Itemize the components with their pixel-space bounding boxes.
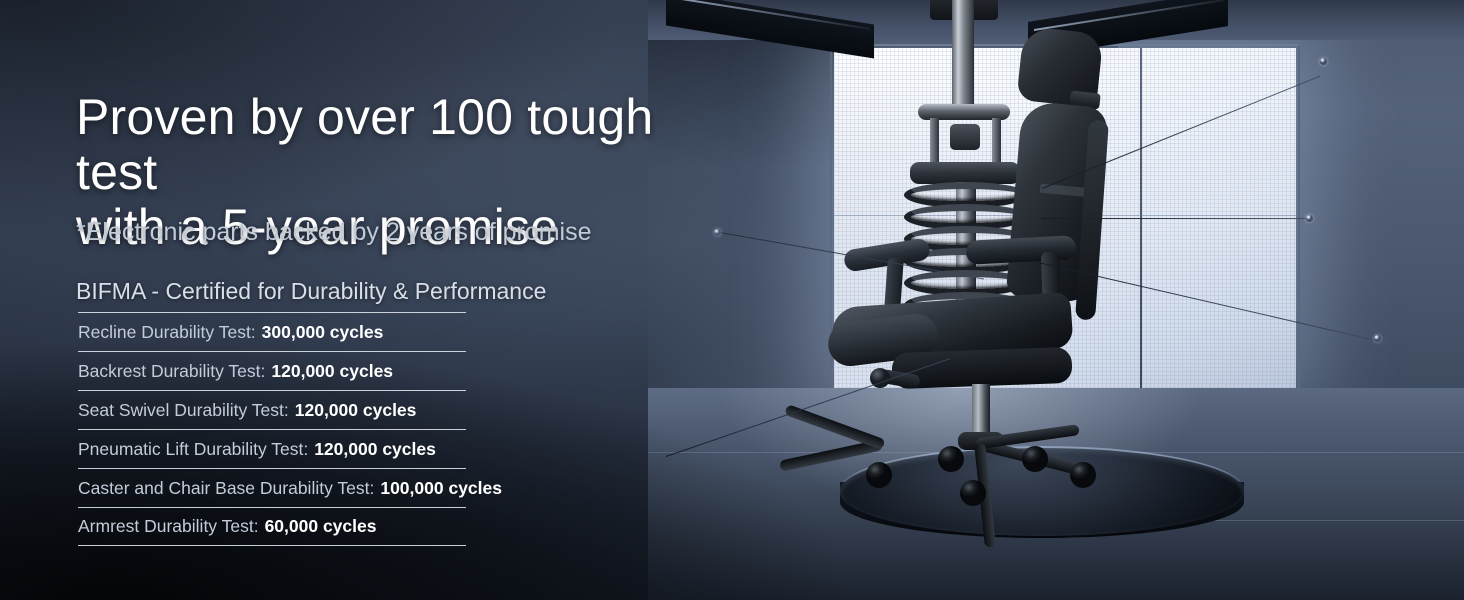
certification-heading: BIFMA - Certified for Durability & Perfo… [76,276,546,306]
spec-value: 120,000 cycles [295,400,417,421]
list-item: Backrest Durability Test: 120,000 cycles [78,351,466,390]
spec-label: Pneumatic Lift Durability Test: [78,439,308,460]
subtitle-note: *Electronic parts backed by 2 years of p… [76,216,592,248]
list-item: Recline Durability Test: 300,000 cycles [78,312,466,351]
durability-banner: Proven by over 100 tough test with a 5-y… [0,0,1464,600]
durability-spec-list: Recline Durability Test: 300,000 cycles … [78,312,466,546]
spec-value: 100,000 cycles [380,478,502,499]
spec-value: 300,000 cycles [262,322,384,343]
spec-value: 120,000 cycles [314,439,436,460]
spec-label: Seat Swivel Durability Test: [78,400,289,421]
list-item: Caster and Chair Base Durability Test: 1… [78,468,466,507]
text-content: Proven by over 100 tough test with a 5-y… [0,0,648,600]
list-item: Seat Swivel Durability Test: 120,000 cyc… [78,390,466,429]
spec-label: Backrest Durability Test: [78,361,265,382]
spec-value: 120,000 cycles [271,361,393,382]
spec-label: Caster and Chair Base Durability Test: [78,478,374,499]
spec-value: 60,000 cycles [265,516,377,537]
list-item: Armrest Durability Test: 60,000 cycles [78,507,466,546]
spec-label: Recline Durability Test: [78,322,256,343]
spec-label: Armrest Durability Test: [78,516,259,537]
list-item: Pneumatic Lift Durability Test: 120,000 … [78,429,466,468]
